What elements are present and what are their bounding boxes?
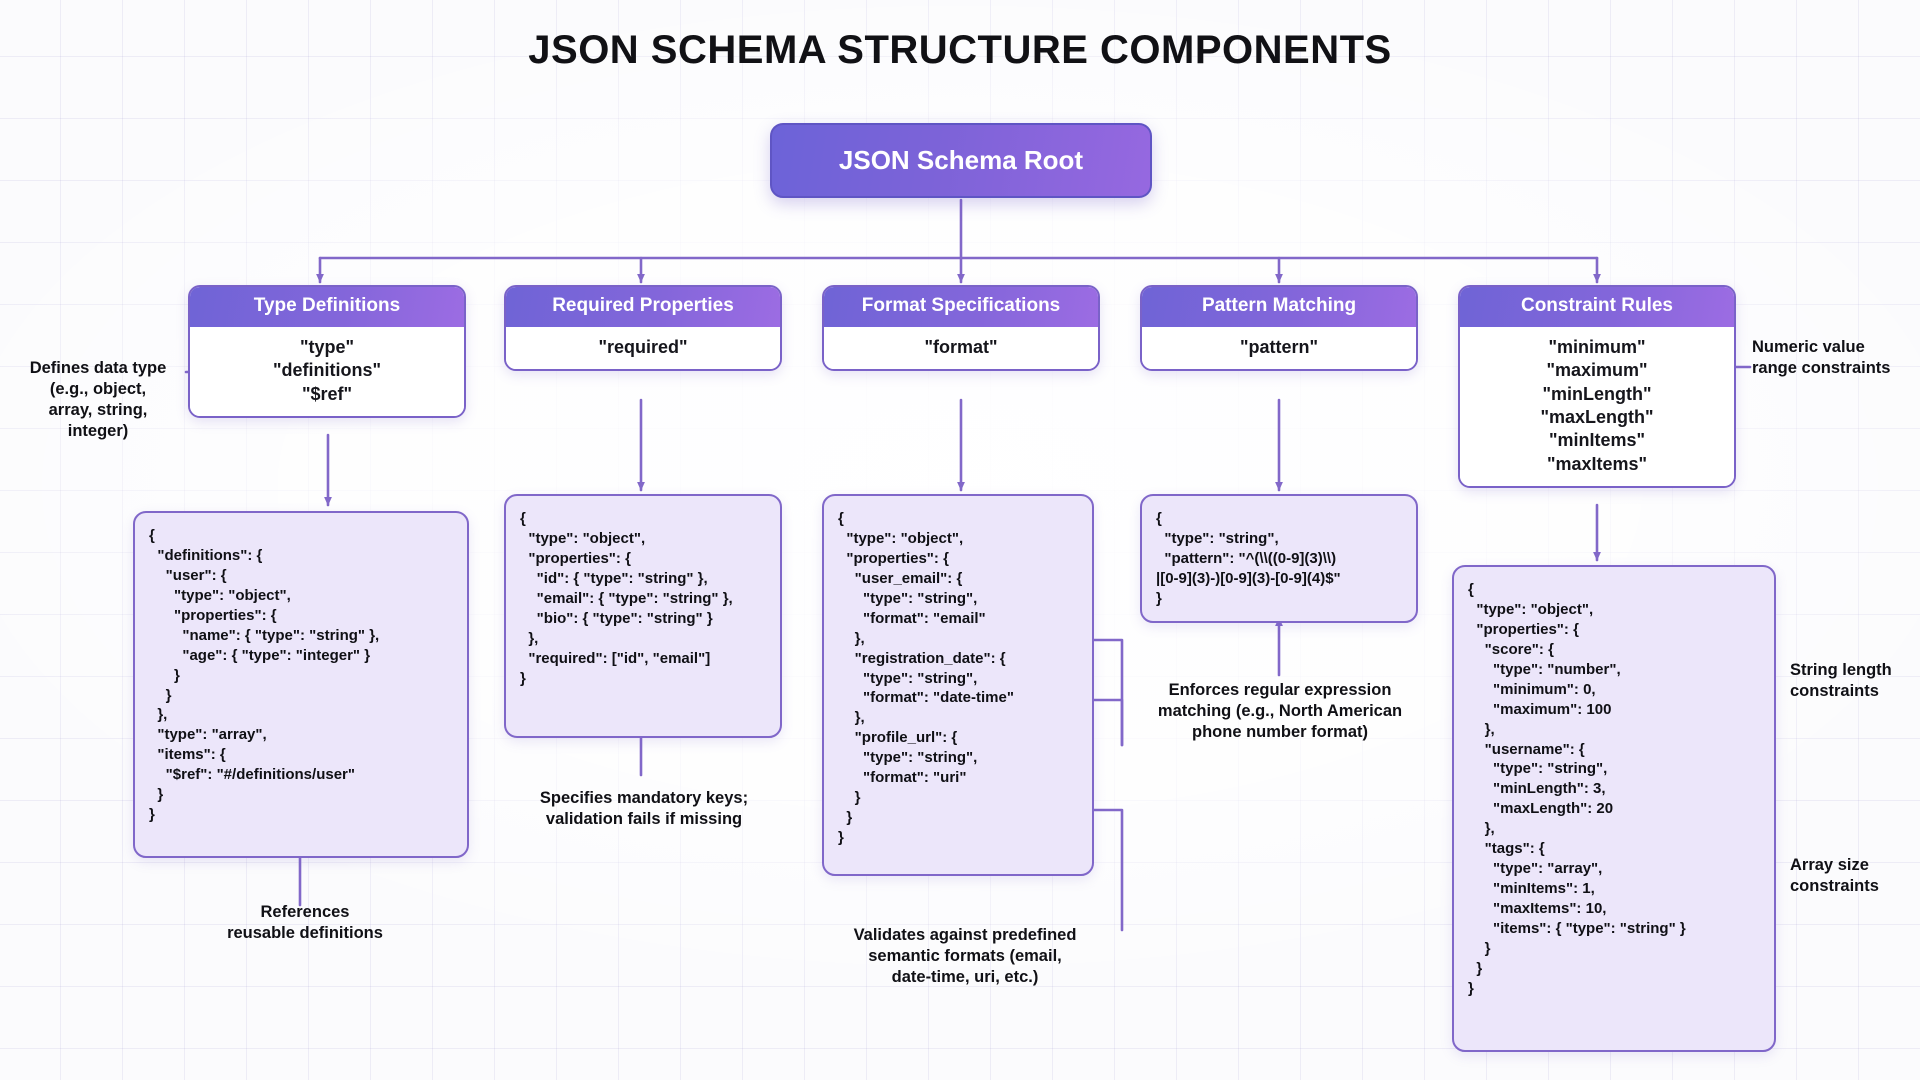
diagram-canvas: JSON SCHEMA STRUCTURE COMPONENTS <box>0 0 1920 1080</box>
root-node-label: JSON Schema Root <box>839 145 1083 176</box>
annotation-string-length: String length constraints <box>1790 660 1920 702</box>
card-body-format-specifications: "format" <box>824 327 1098 369</box>
page-title: JSON SCHEMA STRUCTURE COMPONENTS <box>0 28 1920 73</box>
card-required-properties[interactable]: Required Properties "required" <box>504 285 782 371</box>
card-header-type-definitions: Type Definitions <box>190 287 464 327</box>
card-header-format-specifications: Format Specifications <box>824 287 1098 327</box>
keyword-definitions: "definitions" <box>198 359 456 382</box>
code-block-required-properties: { "type": "object", "properties": { "id"… <box>504 494 782 738</box>
keyword-maximum: "maximum" <box>1468 359 1726 382</box>
keyword-type: "type" <box>198 336 456 359</box>
keyword-minlength: "minLength" <box>1468 383 1726 406</box>
card-header-constraint-rules: Constraint Rules <box>1460 287 1734 327</box>
annotation-numeric-range: Numeric value range constraints <box>1752 337 1920 379</box>
keyword-minitems: "minItems" <box>1468 429 1726 452</box>
keyword-maxlength: "maxLength" <box>1468 406 1726 429</box>
keyword-minimum: "minimum" <box>1468 336 1726 359</box>
keyword-format: "format" <box>832 336 1090 359</box>
card-body-constraint-rules: "minimum" "maximum" "minLength" "maxLeng… <box>1460 327 1734 486</box>
keyword-ref: "$ref" <box>198 383 456 406</box>
code-block-type-definitions: { "definitions": { "user": { "type": "ob… <box>133 511 469 858</box>
annotation-enforces-regex: Enforces regular expression matching (e.… <box>1130 680 1430 743</box>
card-body-type-definitions: "type" "definitions" "$ref" <box>190 327 464 416</box>
card-body-required-properties: "required" <box>506 327 780 369</box>
annotation-array-size: Array size constraints <box>1790 855 1920 897</box>
code-block-pattern-matching: { "type": "string", "pattern": "^(\\((0-… <box>1140 494 1418 623</box>
card-header-required-properties: Required Properties <box>506 287 780 327</box>
keyword-pattern: "pattern" <box>1150 336 1408 359</box>
annotation-specifies-mandatory: Specifies mandatory keys; validation fai… <box>498 788 790 830</box>
card-header-pattern-matching: Pattern Matching <box>1142 287 1416 327</box>
keyword-required: "required" <box>514 336 772 359</box>
card-constraint-rules[interactable]: Constraint Rules "minimum" "maximum" "mi… <box>1458 285 1736 488</box>
card-pattern-matching[interactable]: Pattern Matching "pattern" <box>1140 285 1418 371</box>
code-block-constraint-rules: { "type": "object", "properties": { "sco… <box>1452 565 1776 1052</box>
card-body-pattern-matching: "pattern" <box>1142 327 1416 369</box>
card-type-definitions[interactable]: Type Definitions "type" "definitions" "$… <box>188 285 466 418</box>
node-layer: JSON Schema Root Type Definitions "type"… <box>0 0 1920 1080</box>
annotation-defines-data-type: Defines data type (e.g., object, array, … <box>8 358 188 442</box>
code-block-format-specifications: { "type": "object", "properties": { "use… <box>822 494 1094 876</box>
annotation-validates-formats: Validates against predefined semantic fo… <box>815 925 1115 988</box>
root-node[interactable]: JSON Schema Root <box>770 123 1152 198</box>
card-format-specifications[interactable]: Format Specifications "format" <box>822 285 1100 371</box>
keyword-maxitems: "maxItems" <box>1468 453 1726 476</box>
annotation-references-reusable: References reusable definitions <box>205 902 405 944</box>
